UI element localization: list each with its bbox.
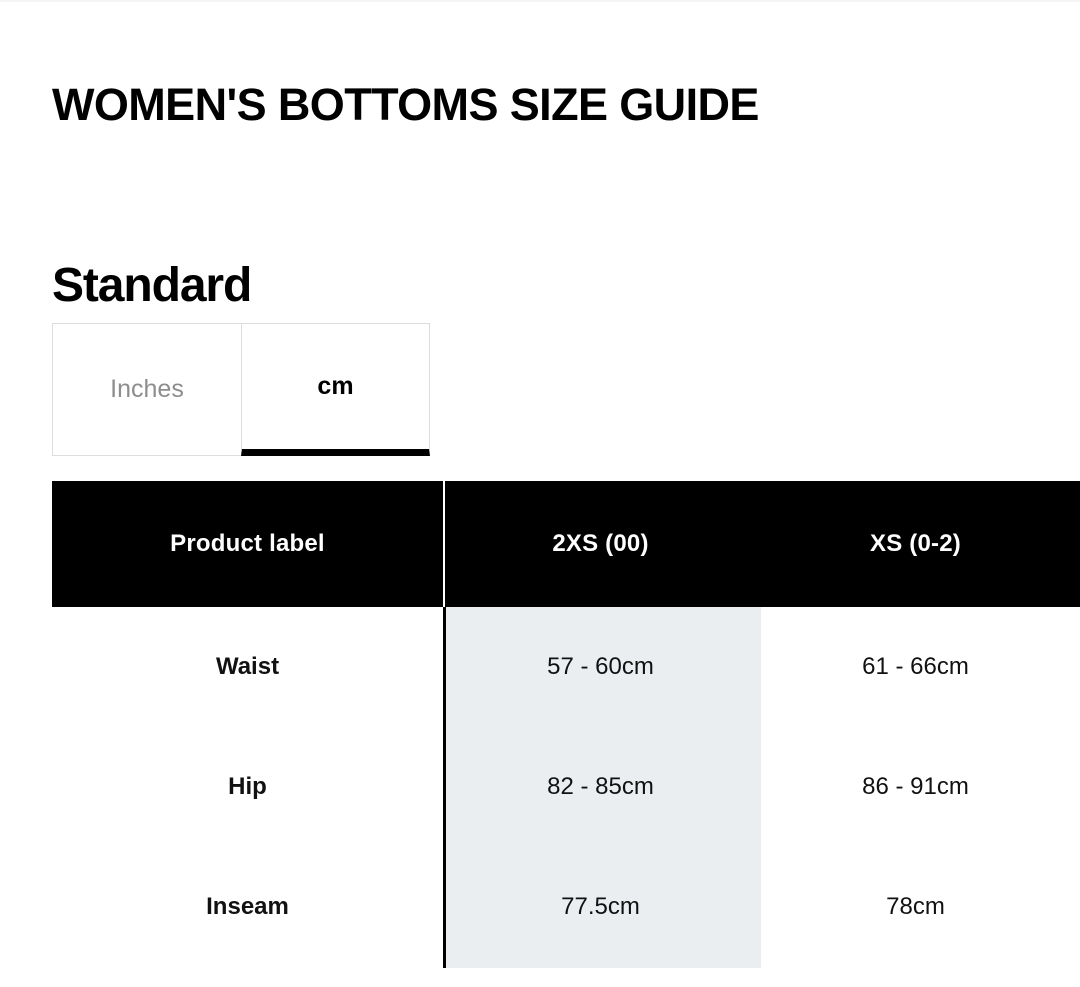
size-table: Product label 2XS (00) XS (0-2) Waist 57…	[52, 481, 1080, 981]
table-row: Waist 57 - 60cm 61 - 66cm	[52, 607, 1080, 727]
section-title-standard: Standard	[52, 254, 251, 318]
header-column-divider	[443, 481, 445, 607]
row-label-waist: Waist	[52, 607, 443, 727]
size-table-body: Waist 57 - 60cm 61 - 66cm Hip 82 - 85cm …	[52, 607, 1080, 968]
page-title: WOMEN'S BOTTOMS SIZE GUIDE	[52, 74, 759, 136]
unit-toggle-inches[interactable]: Inches	[52, 323, 241, 456]
row-label-hip: Hip	[52, 727, 443, 847]
row-label-inseam: Inseam	[52, 847, 443, 967]
column-header-xs: XS (0-2)	[758, 481, 1073, 607]
size-guide-page: WOMEN'S BOTTOMS SIZE GUIDE Standard Inch…	[0, 0, 1080, 987]
cell-hip-xs: 86 - 91cm	[758, 727, 1073, 847]
column-header-product-label: Product label	[52, 481, 443, 607]
table-row: Hip 82 - 85cm 86 - 91cm	[52, 727, 1080, 847]
cell-waist-xs: 61 - 66cm	[758, 607, 1073, 727]
table-row: Inseam 77.5cm 78cm	[52, 847, 1080, 967]
cell-inseam-xs: 78cm	[758, 847, 1073, 967]
column-header-2xs: 2XS (00)	[443, 481, 758, 607]
unit-toggle-group: Inches cm	[52, 323, 430, 456]
cell-hip-2xs: 82 - 85cm	[443, 727, 758, 847]
size-table-header-row: Product label 2XS (00) XS (0-2)	[52, 481, 1080, 607]
cell-inseam-2xs: 77.5cm	[443, 847, 758, 967]
cell-waist-2xs: 57 - 60cm	[443, 607, 758, 727]
unit-toggle-cm[interactable]: cm	[241, 323, 430, 456]
